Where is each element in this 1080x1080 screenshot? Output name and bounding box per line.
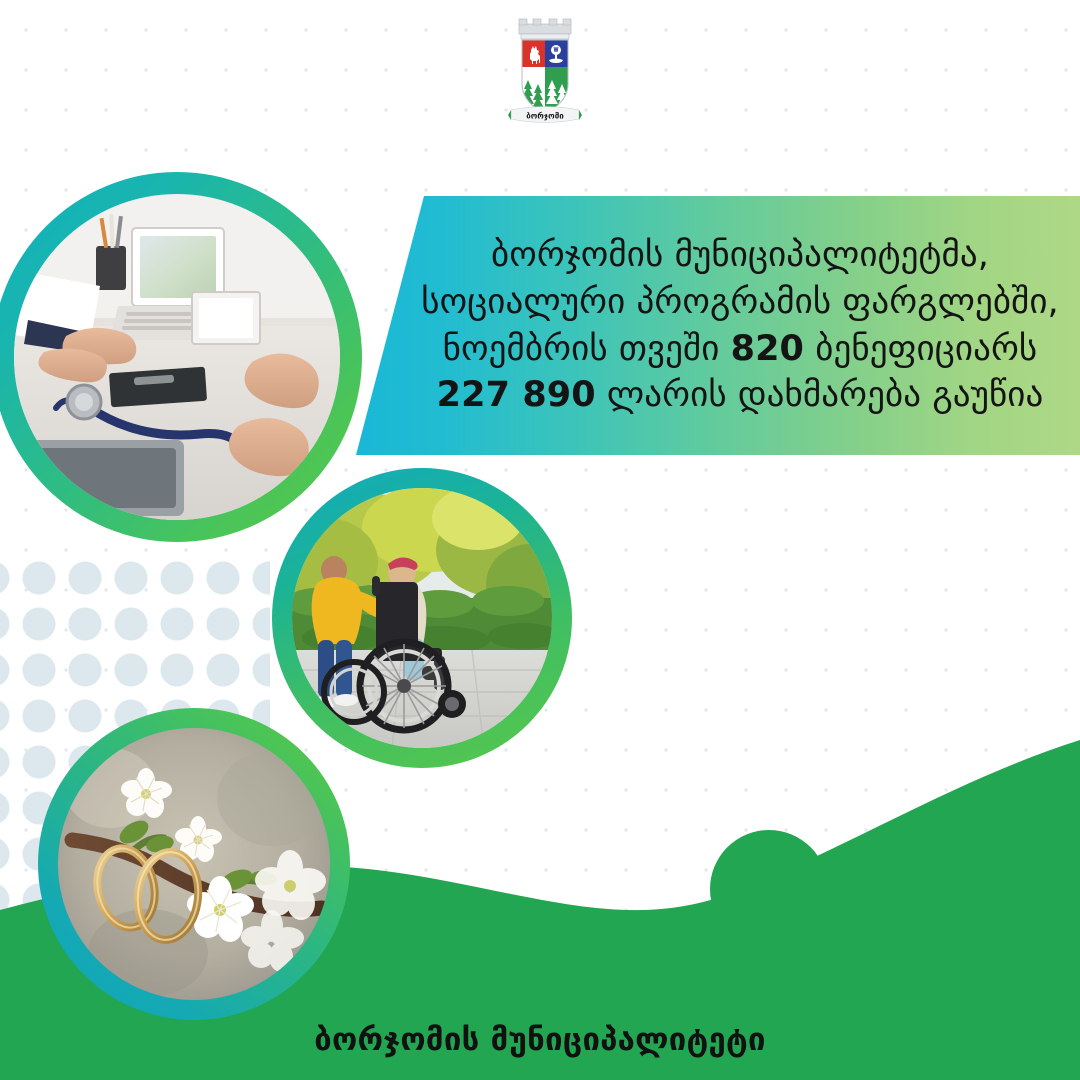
headline-line-3-suffix: ბენეფიციარს <box>804 329 1037 369</box>
footer-organization-name: ბორჯომის მუნიციპალიტეტი <box>0 1022 1080 1058</box>
headline-line-1: ბორჯომის მუნიციპალიტეტმა, <box>410 232 1070 279</box>
wheelchair-care-illustration <box>292 488 552 748</box>
green-circle-decoration <box>710 830 828 948</box>
beneficiaries-count: 820 <box>731 329 804 369</box>
headline-text: ბორჯომის მუნიციპალიტეტმა, სოციალური პროგ… <box>410 232 1070 420</box>
medical-consultation-illustration <box>14 194 340 520</box>
headline-line-3: ნოემბრის თვეში 820 ბენეფიციარს <box>410 326 1070 373</box>
amount-value: 227 890 <box>437 375 596 415</box>
poster-canvas: ბორჯომი <box>0 0 1080 1080</box>
headline-line-4-suffix: ლარის დახმარება გაუწია <box>596 375 1044 415</box>
headline-line-2: სოციალური პროგრამის ფარგლებში, <box>410 279 1070 326</box>
headline-line-3-prefix: ნოემბრის თვეში <box>443 329 731 369</box>
photo-wheelchair-care <box>292 488 552 748</box>
wedding-rings-blossom-illustration <box>58 728 330 1000</box>
photo-wedding-rings-blossom <box>58 728 330 1000</box>
photo-medical-consultation <box>14 194 340 520</box>
headline-banner: ბორჯომის მუნიციპალიტეტმა, სოციალური პროგ… <box>356 196 1080 455</box>
borjomi-coat-of-arms-icon: ბორჯომი <box>505 18 585 126</box>
headline-line-4: 227 890 ლარის დახმარება გაუწია <box>410 372 1070 419</box>
emblem-ribbon-text: ბორჯომი <box>526 111 564 121</box>
